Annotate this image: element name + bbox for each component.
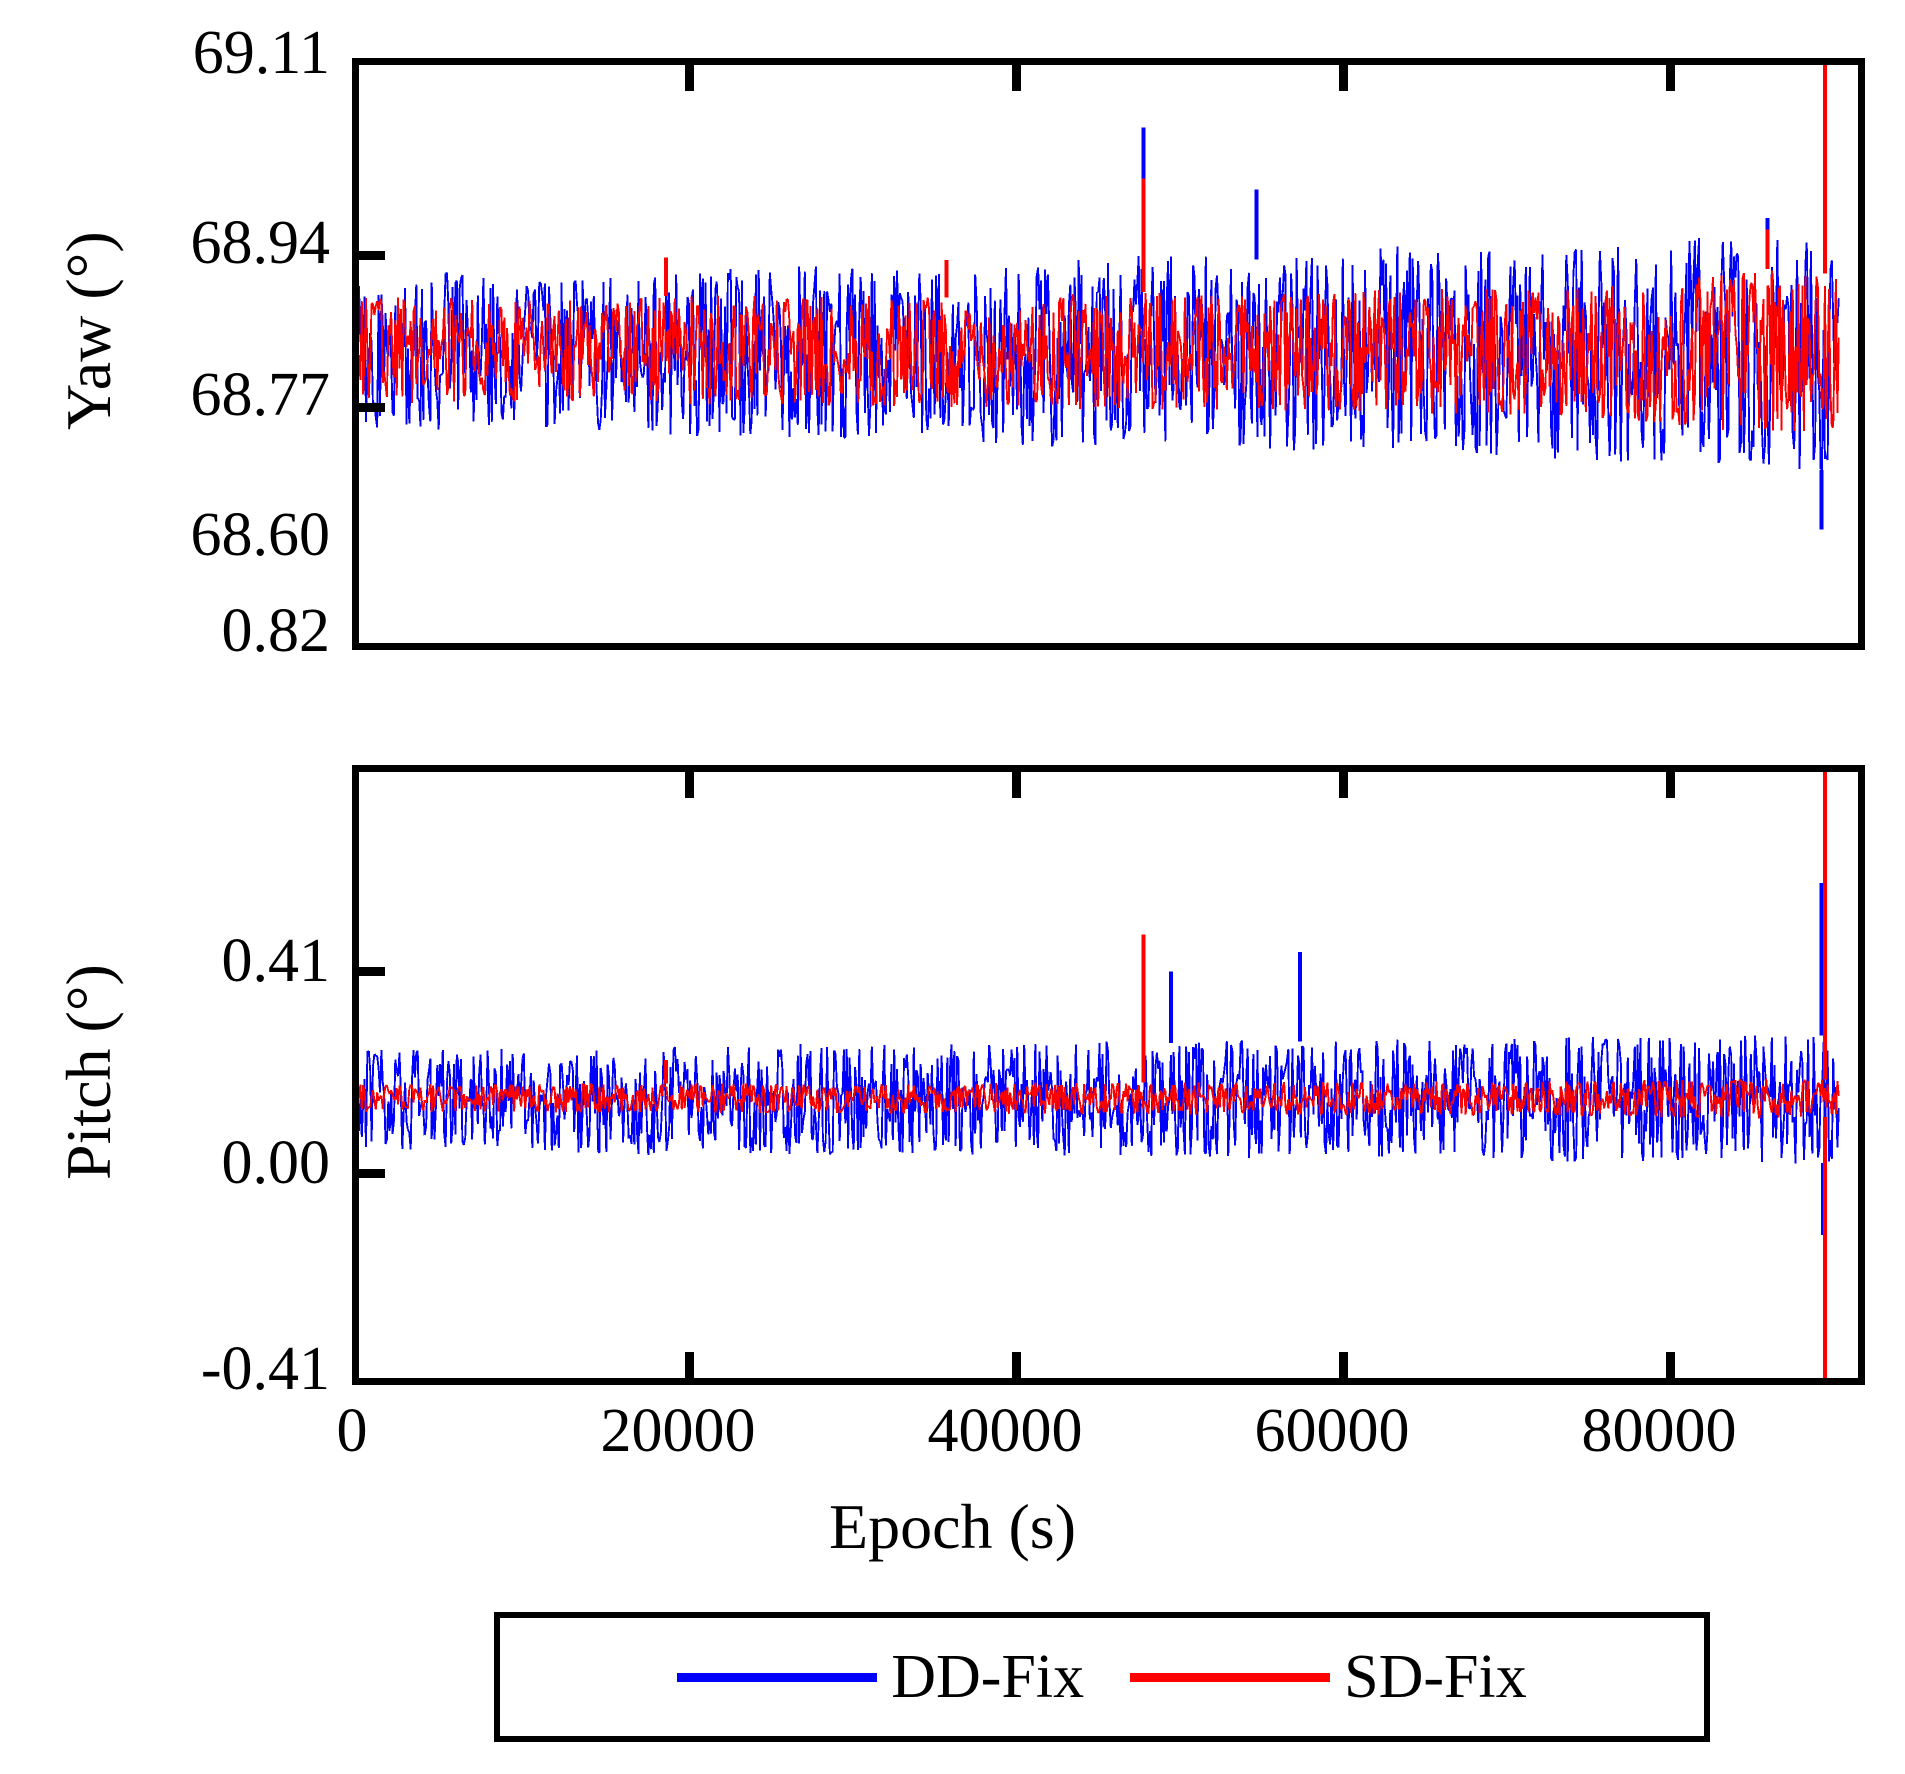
- x-axis-title: Epoch (s): [0, 1490, 1905, 1564]
- pitch-xtick-20000: [685, 1352, 694, 1378]
- xlabel-20000: 20000: [588, 1400, 768, 1462]
- figure: 69.11 68.94 68.77 68.60 Yaw (°) 0.82 0.4…: [0, 0, 1905, 1774]
- xlabel-80000: 80000: [1569, 1400, 1749, 1462]
- xlabel-40000: 40000: [915, 1400, 1095, 1462]
- yaw-plot-panel: [352, 58, 1865, 650]
- legend: DD-Fix SD-Fix: [494, 1612, 1710, 1742]
- pitch-xtick-80000: [1666, 1352, 1675, 1378]
- yaw-xtick-80000: [1666, 65, 1675, 91]
- legend-item-sd-fix[interactable]: SD-Fix: [1130, 1646, 1527, 1708]
- xlabel-0: 0: [262, 1400, 442, 1462]
- pitch-xtick-60000: [1339, 1352, 1348, 1378]
- yaw-ylabel-6877: 68.77: [0, 364, 330, 426]
- yaw-ylabel-6860: 68.60: [0, 504, 330, 566]
- yaw-ytick-6877: [359, 403, 385, 412]
- yaw-ylabel-6894: 68.94: [0, 212, 330, 274]
- pitch-axis-title: Pitch (°): [52, 964, 126, 1180]
- pitch-xtick-top-40000: [1012, 772, 1021, 798]
- pitch-ytick-000: [359, 1169, 385, 1178]
- pitch-ylabel-041: 0.41: [0, 930, 330, 992]
- pitch-xtick-top-20000: [685, 772, 694, 798]
- yaw-ylabel-6911: 69.11: [0, 22, 330, 84]
- legend-label-sd-fix: SD-Fix: [1344, 1646, 1527, 1708]
- pitch-xtick-top-60000: [1339, 772, 1348, 798]
- yaw-ytick-6894: [359, 251, 385, 260]
- pitch-ytick-041: [359, 967, 385, 976]
- legend-item-dd-fix[interactable]: DD-Fix: [677, 1646, 1084, 1708]
- pitch-ylabel-neg041: -0.41: [0, 1338, 330, 1400]
- yaw-xtick-40000: [1012, 65, 1021, 91]
- pitch-plot-panel: [352, 765, 1865, 1385]
- pitch-ylabel-082: 0.82: [0, 600, 330, 662]
- xlabel-60000: 60000: [1242, 1400, 1422, 1462]
- pitch-xtick-top-80000: [1666, 772, 1675, 798]
- pitch-series-canvas: [359, 772, 1858, 1378]
- yaw-xtick-60000: [1339, 65, 1348, 91]
- yaw-series-canvas: [359, 65, 1858, 643]
- legend-swatch-sd-fix: [1130, 1673, 1330, 1682]
- legend-label-dd-fix: DD-Fix: [891, 1646, 1084, 1708]
- yaw-axis-title: Yaw (°): [52, 231, 126, 430]
- pitch-ylabel-000: 0.00: [0, 1132, 330, 1194]
- yaw-xtick-20000: [685, 65, 694, 91]
- legend-swatch-dd-fix: [677, 1673, 877, 1682]
- pitch-xtick-40000: [1012, 1352, 1021, 1378]
